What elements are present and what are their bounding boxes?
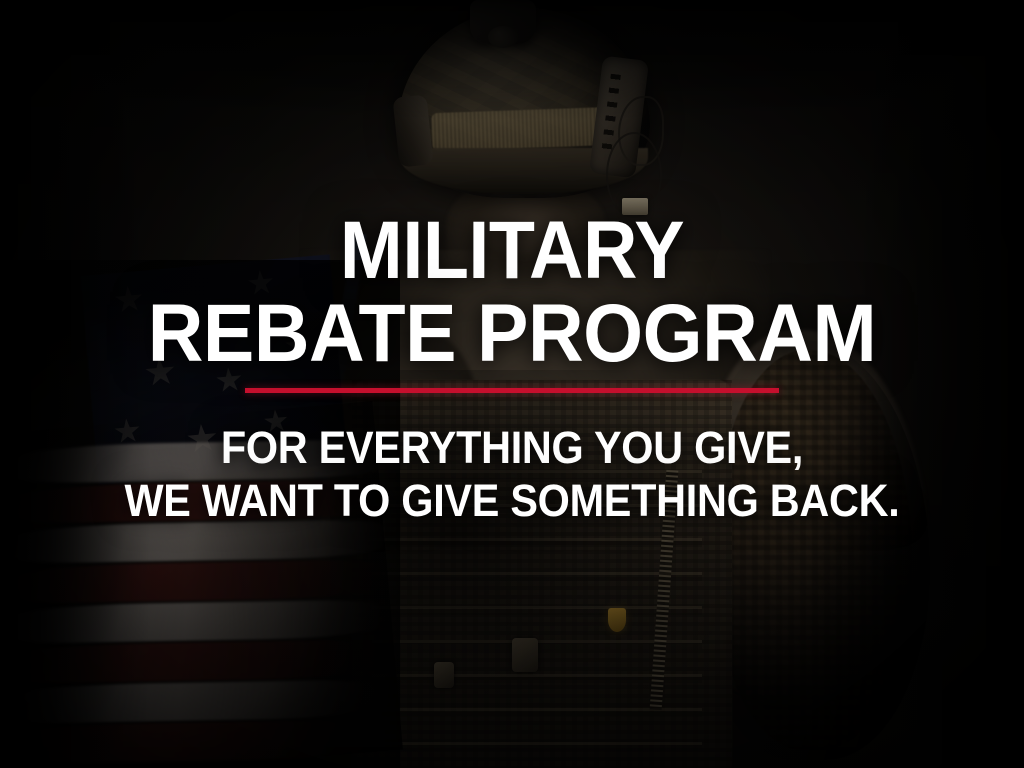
red-divider-rule xyxy=(245,388,779,393)
text-overlay: MILITARY REBATE PROGRAM FOR EVERYTHING Y… xyxy=(0,0,1024,768)
subtitle-line-1: FOR EVERYTHING YOU GIVE, xyxy=(221,422,803,473)
subtitle-line-2: WE WANT TO GIVE SOMETHING BACK. xyxy=(41,474,983,527)
slide-canvas: MILITARY REBATE PROGRAM FOR EVERYTHING Y… xyxy=(0,0,1024,768)
subtitle-block: FOR EVERYTHING YOU GIVE, WE WANT TO GIVE… xyxy=(41,421,983,527)
headline-line-2: REBATE PROGRAM xyxy=(31,295,994,372)
headline-line-1: MILITARY xyxy=(41,212,983,289)
